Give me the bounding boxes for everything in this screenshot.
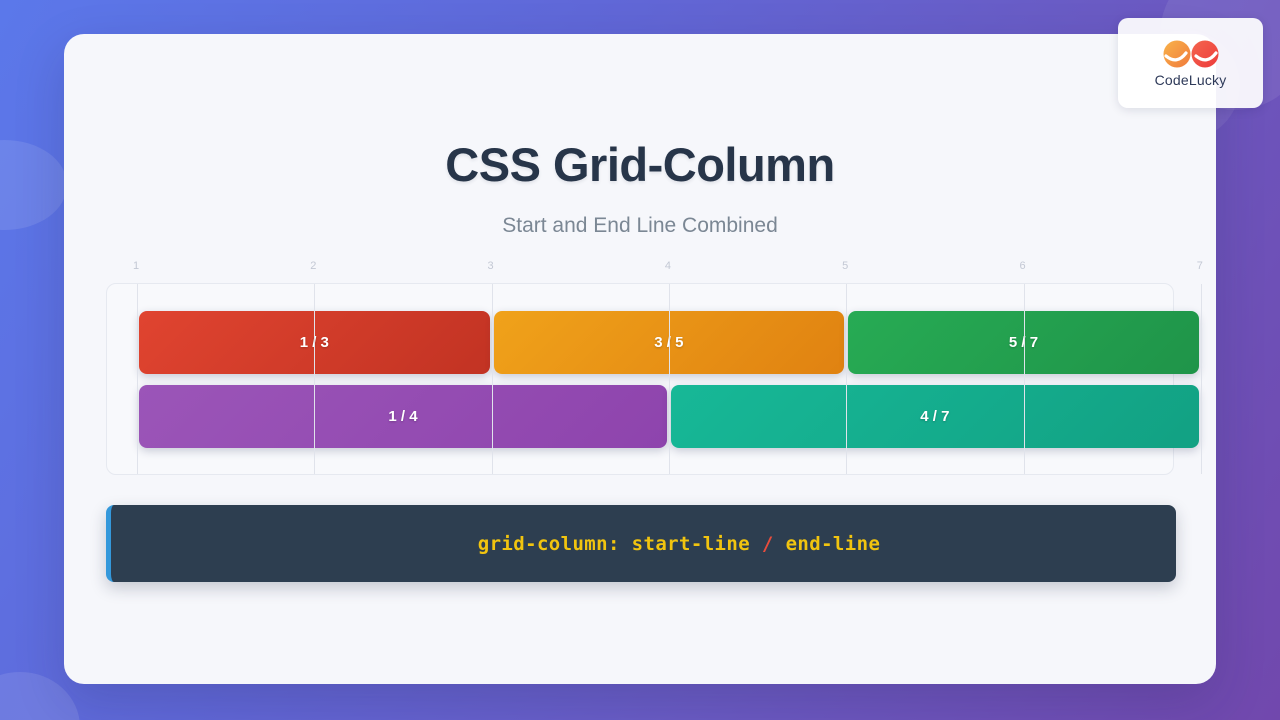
grid-line-number-ruler: 1234567 [106, 260, 1174, 278]
page-subtitle: Start and End Line Combined [64, 214, 1216, 238]
grid-demo-container: 1 / 33 / 55 / 71 / 44 / 7 [106, 283, 1174, 475]
code-value: end-line [786, 533, 881, 555]
grid-column-line [314, 284, 315, 474]
decorative-circle-left-lower [0, 672, 80, 720]
grid-item-label: 4 / 7 [920, 408, 949, 425]
code-property: grid-column: start-line [478, 533, 750, 555]
grid-item-label: 1 / 4 [388, 408, 417, 425]
grid-rows: 1 / 33 / 55 / 71 / 44 / 7 [107, 284, 1173, 474]
decorative-circle-left-mid [0, 140, 67, 230]
grid-line-number: 5 [838, 260, 852, 272]
grid-row: 1 / 33 / 55 / 7 [107, 311, 1173, 373]
grid-item-1-4[interactable]: 1 / 4 [139, 385, 667, 448]
grid-row: 1 / 44 / 7 [107, 385, 1173, 447]
page-title: CSS Grid-Column [64, 137, 1216, 192]
grid-column-line [846, 284, 847, 474]
grid-line-number: 6 [1015, 260, 1029, 272]
grid-line-number: 4 [661, 260, 675, 272]
code-text: grid-column: start-line / end-line [407, 511, 881, 577]
code-syntax-banner: grid-column: start-line / end-line [106, 505, 1176, 582]
grid-column-line [492, 284, 493, 474]
grid-item-4-7[interactable]: 4 / 7 [671, 385, 1199, 448]
presentation-card: CSS Grid-Column Start and End Line Combi… [64, 34, 1216, 684]
grid-column-line [1024, 284, 1025, 474]
grid-line-number: 2 [306, 260, 320, 272]
grid-column-line [1201, 284, 1202, 474]
brand-watermark: CodeLucky [1118, 18, 1263, 108]
grid-column-line [669, 284, 670, 474]
infinity-loop-icon [1160, 38, 1222, 70]
code-separator: / [750, 533, 786, 555]
grid-column-line [137, 284, 138, 474]
brand-name: CodeLucky [1155, 72, 1227, 88]
grid-line-number: 3 [484, 260, 498, 272]
grid-line-number: 1 [129, 260, 143, 272]
grid-line-number: 7 [1193, 260, 1207, 272]
